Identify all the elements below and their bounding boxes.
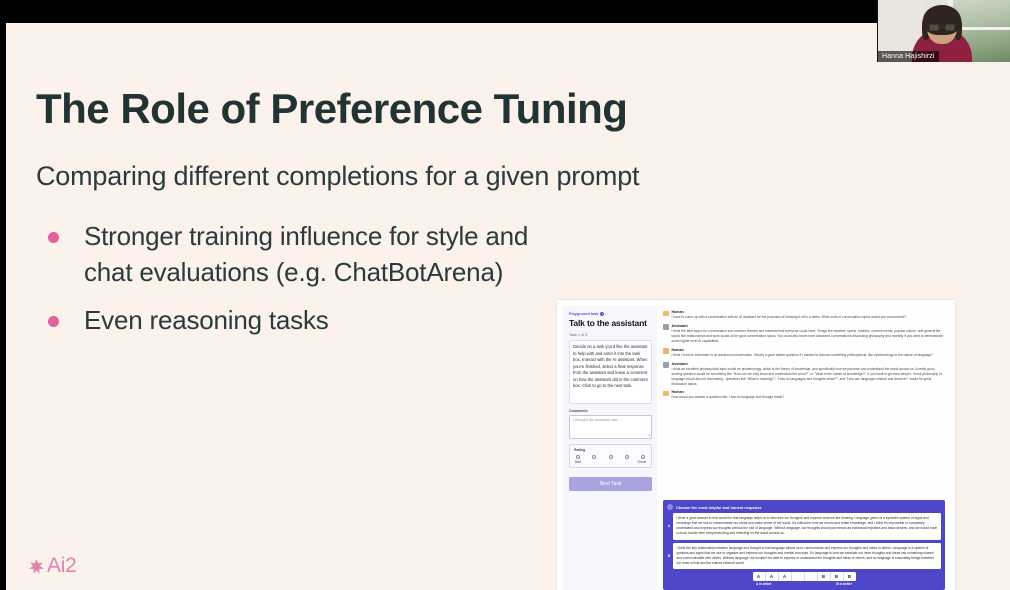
chat-role-label: Assistant bbox=[672, 362, 946, 366]
scale-button[interactable]: B bbox=[818, 572, 831, 581]
chat-message-text: I think I'm more interested in an advanc… bbox=[672, 353, 946, 358]
rating-radio[interactable] bbox=[625, 455, 629, 459]
rating-radio[interactable] bbox=[609, 455, 613, 459]
chat-message-body: Human I have to come up with a conversat… bbox=[672, 310, 946, 320]
chat-message: Assistant I think an excellent philosoph… bbox=[663, 362, 945, 387]
chat-message: Assistant I think the best topics for co… bbox=[663, 324, 945, 344]
comments-field-group: Comments I thought the assistant was ... bbox=[569, 409, 652, 439]
chat-message-body: Assistant I think the best topics for co… bbox=[672, 324, 946, 344]
rating-radio-scale[interactable] bbox=[574, 455, 647, 459]
preference-scale-buttons[interactable]: A A A · · B B B bbox=[753, 572, 856, 581]
scale-button[interactable]: A bbox=[753, 572, 766, 581]
chat-message: Human I think I'm more interested in an … bbox=[663, 348, 945, 358]
task-sidebar: Playground task i Talk to the assistant … bbox=[563, 306, 657, 590]
chat-message-text: I think an excellent philosophical topic… bbox=[672, 367, 946, 387]
preference-scale-labels: A is better B is better bbox=[756, 582, 852, 586]
chat-role-label: Human bbox=[672, 310, 946, 314]
list-item: Stronger training influence for style an… bbox=[36, 219, 546, 291]
participant-name-label: Hanna Hajishirzi bbox=[878, 51, 939, 63]
comments-label: Comments bbox=[569, 409, 652, 413]
preference-scale: A A A · · B B B A is better bbox=[667, 572, 941, 586]
list-item: Even reasoning tasks bbox=[36, 303, 546, 339]
embedded-app-screenshot: Playground task i Talk to the assistant … bbox=[557, 300, 955, 590]
chat-role-label: Human bbox=[672, 390, 946, 394]
choose-response-panel: Choose the most helpful and honest respo… bbox=[663, 500, 945, 590]
scale-button[interactable]: · bbox=[805, 572, 818, 581]
option-text[interactable]: I think the key relationship between lan… bbox=[673, 543, 941, 569]
rating-label: Rating bbox=[574, 448, 647, 452]
glasses-bridge bbox=[939, 27, 945, 28]
scale-button[interactable]: A bbox=[779, 572, 792, 581]
human-avatar-icon bbox=[663, 348, 669, 354]
glasses-lens-right bbox=[945, 24, 955, 31]
rating-radio[interactable] bbox=[592, 455, 596, 459]
bullet-text: Even reasoning tasks bbox=[84, 305, 329, 335]
chat-message: Human I have to come up with a conversat… bbox=[663, 310, 945, 320]
chat-role-label: Assistant bbox=[672, 324, 946, 328]
task-instructions: Decide on a task you'd like the assistan… bbox=[569, 340, 652, 404]
assistant-avatar-icon bbox=[663, 362, 669, 368]
scale-button[interactable]: B bbox=[844, 572, 856, 581]
conversation-column: Human I have to come up with a conversat… bbox=[661, 306, 949, 590]
next-task-button[interactable]: Next Task bbox=[569, 477, 652, 491]
option-letter: B bbox=[667, 554, 671, 558]
rating-end-labels: Bad Great bbox=[574, 460, 647, 464]
chat-role-label: Human bbox=[672, 348, 946, 352]
human-avatar-icon bbox=[663, 391, 669, 397]
option-text[interactable]: I think a good answer to that would be t… bbox=[673, 513, 941, 539]
chat-message-body: Human How would you answer a question li… bbox=[672, 390, 946, 400]
option-letter: A bbox=[667, 524, 671, 528]
info-icon[interactable]: i bbox=[600, 312, 604, 316]
assistant-avatar-icon bbox=[663, 324, 669, 330]
rating-group: Rating Bad Great bbox=[569, 444, 652, 468]
embedded-app-body: Playground task i Talk to the assistant … bbox=[563, 306, 949, 590]
comments-input[interactable]: I thought the assistant was ... bbox=[569, 415, 652, 439]
response-option[interactable]: B I think the key relationship between l… bbox=[667, 543, 941, 569]
ai2-logo-text: Ai2 bbox=[47, 554, 76, 578]
human-avatar-icon bbox=[663, 311, 669, 317]
scale-left-label: A is better bbox=[756, 582, 771, 586]
scale-button[interactable]: A bbox=[766, 572, 779, 581]
scale-button[interactable]: · bbox=[792, 572, 805, 581]
chat-message-text: I think the best topics for conversation… bbox=[672, 329, 946, 344]
bullet-dot-icon bbox=[48, 316, 59, 327]
slide-subtitle: Comparing different completions for a gi… bbox=[36, 161, 639, 192]
rating-radio[interactable] bbox=[576, 455, 580, 459]
chat-message-body: Human I think I'm more interested in an … bbox=[672, 348, 946, 358]
choose-response-header: Choose the most helpful and honest respo… bbox=[667, 504, 941, 510]
task-heading: Talk to the assistant bbox=[569, 318, 652, 328]
bullet-dot-icon bbox=[48, 232, 59, 243]
task-counter: Task 1 of 5 bbox=[569, 333, 652, 337]
rating-radio[interactable] bbox=[641, 455, 645, 459]
playground-task-badge: Playground task i bbox=[569, 312, 652, 316]
response-option[interactable]: A I think a good answer to that would be… bbox=[667, 513, 941, 539]
glasses-lens-left bbox=[929, 24, 939, 31]
playground-task-label: Playground task bbox=[569, 312, 598, 316]
assistant-avatar-icon bbox=[667, 504, 673, 510]
glasses-icon bbox=[929, 24, 955, 31]
presentation-slide: The Role of Preference Tuning Comparing … bbox=[6, 23, 1010, 590]
chat-message-body: Assistant I think an excellent philosoph… bbox=[672, 362, 946, 387]
choose-response-title: Choose the most helpful and honest respo… bbox=[676, 505, 762, 510]
rating-low-label: Bad bbox=[575, 460, 581, 464]
bullet-list: Stronger training influence for style an… bbox=[36, 219, 546, 351]
chat-message-text: How would you answer a question like: Ho… bbox=[672, 395, 946, 400]
rating-high-label: Great bbox=[638, 460, 646, 464]
ai2-flower-icon bbox=[28, 558, 45, 575]
scale-button[interactable]: B bbox=[831, 572, 844, 581]
scale-right-label: B is better bbox=[836, 582, 852, 586]
chat-message-text: I have to come up with a conversation wi… bbox=[672, 315, 946, 320]
webcam-video-tile[interactable]: Hanna Hajishirzi bbox=[877, 0, 1010, 62]
chat-message: Human How would you answer a question li… bbox=[663, 390, 945, 400]
screen: The Role of Preference Tuning Comparing … bbox=[0, 0, 1010, 590]
page-title: The Role of Preference Tuning bbox=[36, 85, 627, 133]
bullet-text: Stronger training influence for style an… bbox=[84, 221, 528, 287]
ai2-logo: Ai2 bbox=[28, 554, 76, 578]
